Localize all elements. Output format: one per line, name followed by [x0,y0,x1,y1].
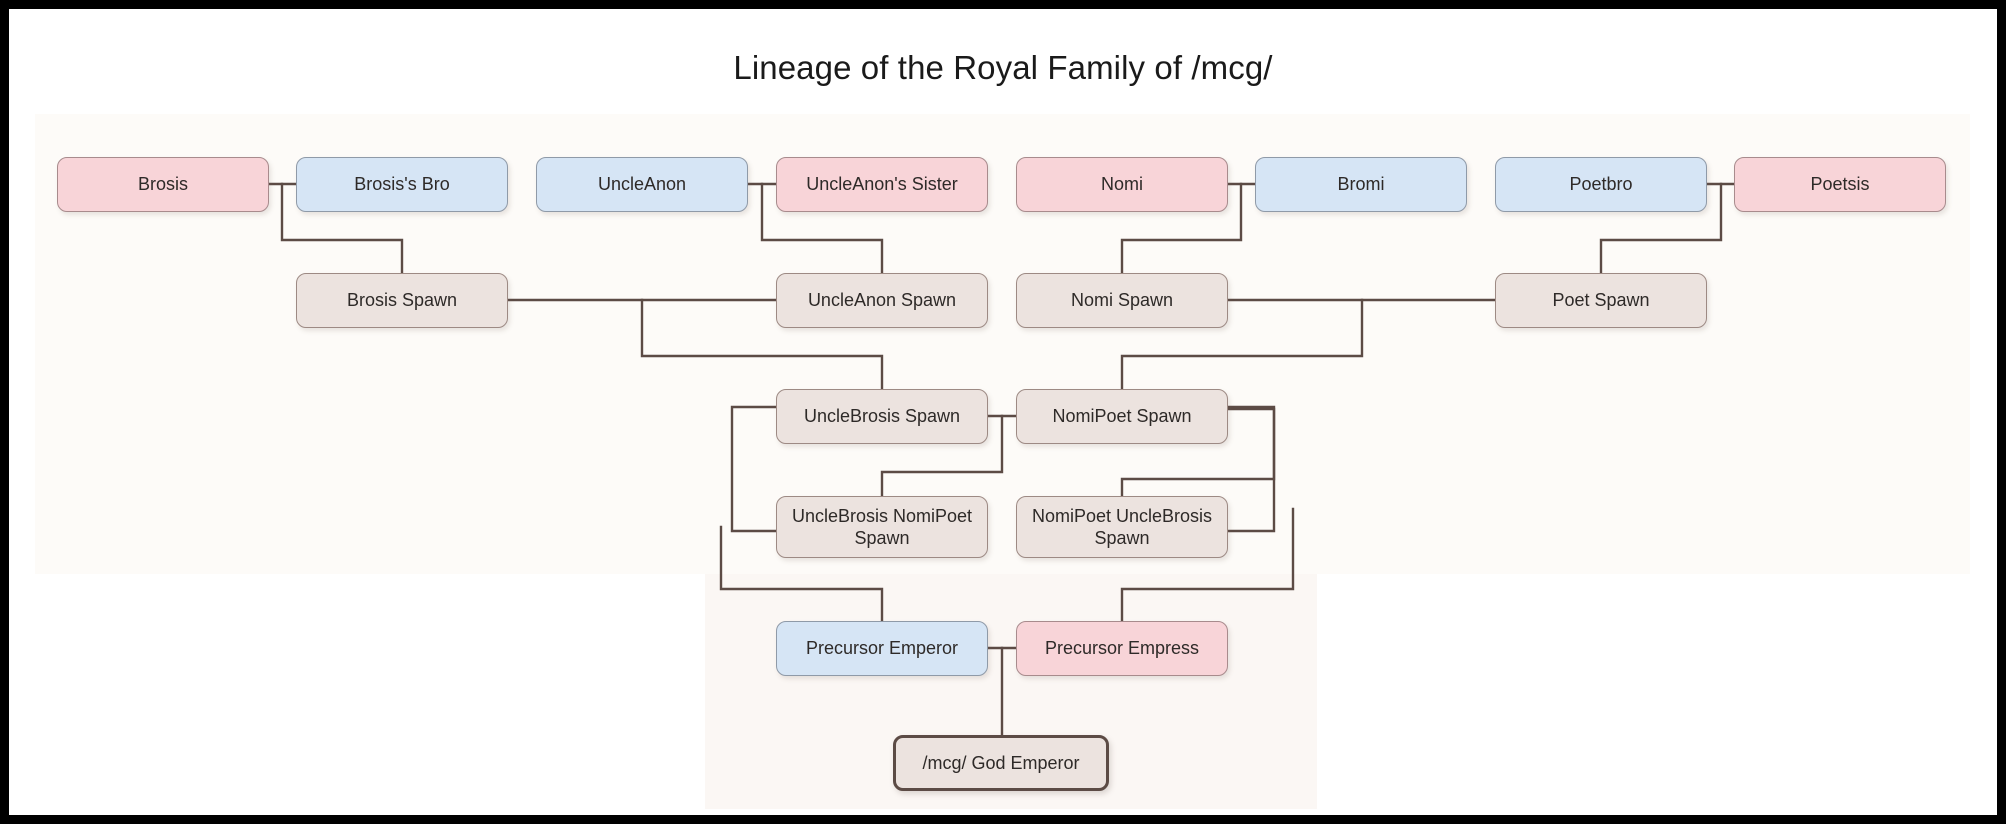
node-ubnp_spawn[interactable]: UncleBrosis NomiPoet Spawn [776,496,988,558]
node-brosis_bro[interactable]: Brosis's Bro [296,157,508,212]
node-nomipoet_spawn[interactable]: NomiPoet Spawn [1016,389,1228,444]
diagram-stage: Lineage of the Royal Family of /mcg/ Bro… [9,9,1997,815]
node-poet_spawn[interactable]: Poet Spawn [1495,273,1707,328]
node-npub_spawn[interactable]: NomiPoet UncleBrosis Spawn [1016,496,1228,558]
connector-npub-right-wrap [1228,407,1274,531]
node-brosis_spawn[interactable]: Brosis Spawn [296,273,508,328]
node-brosis[interactable]: Brosis [57,157,269,212]
node-bromi[interactable]: Bromi [1255,157,1467,212]
node-uncleanon[interactable]: UncleAnon [536,157,748,212]
node-nomi[interactable]: Nomi [1016,157,1228,212]
diagram-canvas: Lineage of the Royal Family of /mcg/ Bro… [0,0,2006,824]
node-poetbro[interactable]: Poetbro [1495,157,1707,212]
node-poetsis[interactable]: Poetsis [1734,157,1946,212]
node-uncleanon_sis[interactable]: UncleAnon's Sister [776,157,988,212]
node-precursor_empress[interactable]: Precursor Empress [1016,621,1228,676]
connector-layer [9,9,1997,815]
node-precursor_emperor[interactable]: Precursor Emperor [776,621,988,676]
node-unclebrosis_spawn[interactable]: UncleBrosis Spawn [776,389,988,444]
connector-ub-to-npub-left [732,407,776,531]
node-uncleanon_spawn[interactable]: UncleAnon Spawn [776,273,988,328]
node-god_emperor[interactable]: /mcg/ God Emperor [893,735,1109,791]
node-nomi_spawn[interactable]: Nomi Spawn [1016,273,1228,328]
